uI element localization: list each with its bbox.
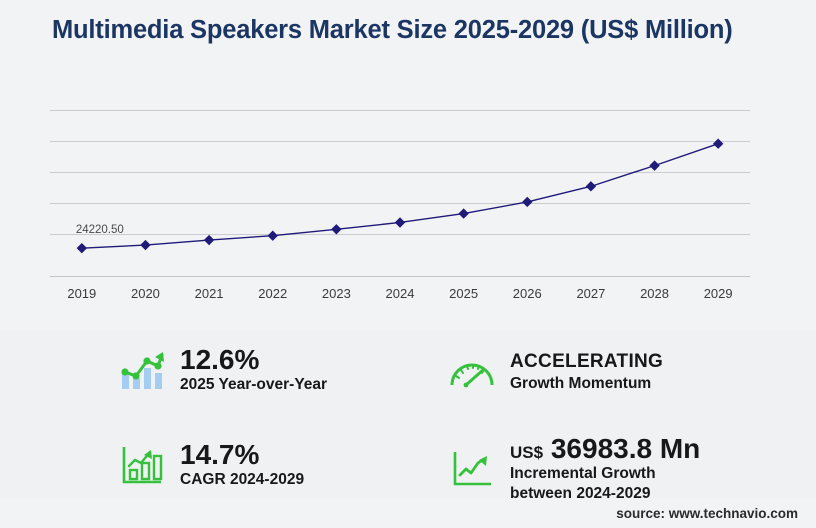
chart-panel: 24220.50 2019202020212022202320242025202… [0, 75, 816, 290]
market-size-series [50, 110, 750, 277]
bar-chart-arrow-icon [118, 441, 166, 489]
stat-text: 12.6% 2025 Year-over-Year [180, 345, 327, 395]
stat-caption-line1: Incremental Growth [510, 464, 700, 484]
x-axis-tick-2021: 2021 [177, 286, 241, 301]
stat-text: US$ 36983.8 Mn Incremental Growth betwee… [510, 434, 700, 503]
x-axis-tick-2023: 2023 [304, 286, 368, 301]
stat-cagr: 14.7% CAGR 2024-2029 [118, 440, 304, 490]
data-point-marker[interactable] [77, 243, 87, 253]
source-note: source: www.technavio.com [616, 506, 798, 521]
stat-year-over-year: 12.6% 2025 Year-over-Year [118, 345, 327, 395]
x-axis-tick-2024: 2024 [368, 286, 432, 301]
data-point-marker[interactable] [649, 160, 659, 170]
x-axis-tick-2022: 2022 [241, 286, 305, 301]
data-point-marker[interactable] [458, 208, 468, 218]
data-point-label: 24220.50 [76, 224, 124, 236]
stat-growth-momentum: ACCELERATING Growth Momentum [448, 348, 663, 396]
stat-caption: 2025 Year-over-Year [180, 375, 327, 395]
x-axis-tick-2025: 2025 [432, 286, 496, 301]
stat-text: 14.7% CAGR 2024-2029 [180, 440, 304, 490]
x-axis-tick-2029: 2029 [686, 286, 750, 301]
x-axis-tick-2028: 2028 [623, 286, 687, 301]
data-point-marker[interactable] [522, 197, 532, 207]
stat-value-amount: 36983.8 Mn [551, 433, 700, 464]
stat-value: US$ 36983.8 Mn [510, 434, 700, 464]
speedometer-icon [448, 348, 496, 396]
trending-up-icon [448, 445, 496, 493]
x-axis-tick-2026: 2026 [495, 286, 559, 301]
x-axis-tick-2019: 2019 [50, 286, 114, 301]
data-point-marker[interactable] [395, 217, 405, 227]
x-axis-tick-2020: 2020 [113, 286, 177, 301]
line-chart-plot-area: 24220.50 2019202020212022202320242025202… [50, 110, 750, 277]
stat-incremental-growth: US$ 36983.8 Mn Incremental Growth betwee… [448, 434, 700, 503]
stat-value: 14.7% [180, 440, 304, 470]
stat-value: ACCELERATING [510, 351, 663, 374]
data-point-marker[interactable] [586, 181, 596, 191]
bar-line-growth-icon [118, 346, 166, 394]
stat-caption-line2: between 2024-2029 [510, 484, 700, 504]
data-point-marker[interactable] [268, 231, 278, 241]
x-axis-tick-2027: 2027 [559, 286, 623, 301]
data-point-marker[interactable] [204, 235, 214, 245]
page-title: Multimedia Speakers Market Size 2025-202… [52, 16, 782, 45]
stat-caption: Growth Momentum [510, 374, 663, 394]
data-point-marker[interactable] [713, 139, 723, 149]
data-point-marker[interactable] [140, 240, 150, 250]
stat-text: ACCELERATING Growth Momentum [510, 351, 663, 393]
data-point-marker[interactable] [331, 224, 341, 234]
stat-value-unit: US$ [510, 443, 543, 462]
stat-value: 12.6% [180, 345, 327, 375]
stat-caption: CAGR 2024-2029 [180, 470, 304, 490]
